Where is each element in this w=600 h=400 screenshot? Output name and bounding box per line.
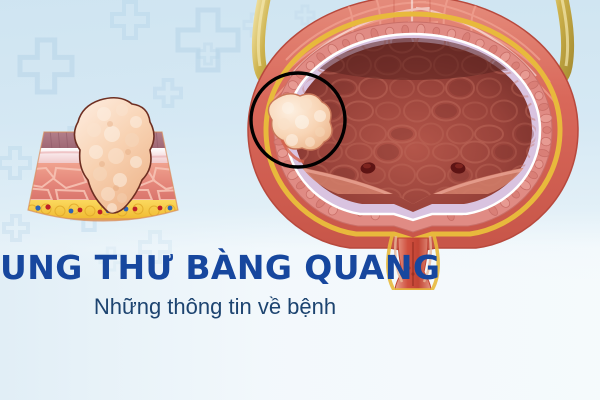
mucosal-cell-shade bbox=[574, 81, 592, 95]
mucosal-cell-shade bbox=[495, 145, 513, 159]
heading-block: UNG THƯ BÀNG QUANG Những thông tin về bệ… bbox=[0, 248, 430, 322]
mucosal-cell bbox=[571, 212, 595, 231]
page-title: UNG THƯ BÀNG QUANG bbox=[0, 248, 430, 288]
mucosal-cell-shade bbox=[559, 191, 579, 205]
mucosal-cell bbox=[571, 79, 595, 98]
medical-cross-icon bbox=[20, 40, 72, 92]
cobblestone-cell bbox=[543, 127, 551, 134]
mucosal-cell-shade bbox=[377, 144, 399, 160]
bladder-cross-section-illustration bbox=[226, 0, 600, 290]
mucosal-cell bbox=[570, 165, 596, 186]
banner-canvas: UNG THƯ BÀNG QUANG Những thông tin về bệ… bbox=[0, 0, 600, 400]
mucosal-cell bbox=[584, 190, 600, 207]
medical-cross-icon bbox=[198, 44, 218, 64]
page-subtitle: Những thông tin về bệnh bbox=[0, 292, 430, 322]
medical-cross-icon bbox=[112, 2, 148, 38]
mucosal-cell-shade bbox=[435, 104, 457, 118]
mucosal-cell bbox=[586, 143, 600, 162]
mucosal-cell bbox=[584, 57, 600, 74]
ureteric-orifice-right-inner bbox=[455, 164, 463, 169]
mucosal-cell-shade bbox=[516, 126, 534, 142]
mucosal-cell-shade bbox=[449, 80, 471, 96]
mucosal-cell bbox=[585, 101, 600, 122]
mucosal-cell-shade bbox=[573, 167, 593, 183]
bladder-wall-cross-section-illustration bbox=[8, 92, 198, 237]
mucosal-cell-shade bbox=[391, 128, 413, 140]
ureteric-orifice-left-inner bbox=[363, 164, 371, 169]
